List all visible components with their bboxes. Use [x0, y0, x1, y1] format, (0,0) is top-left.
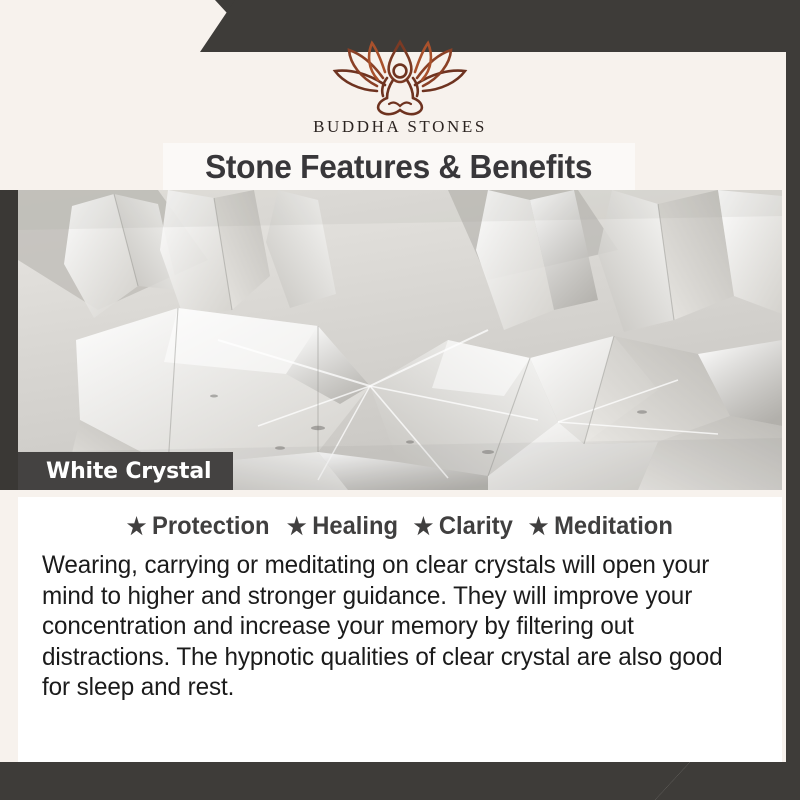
star-icon: ★ [529, 515, 549, 538]
benefit-item: ★ Meditation [529, 512, 673, 541]
brand-header: BUDDHA STONES [0, 38, 800, 138]
benefits-row: ★ Protection ★ Healing ★ Clarity ★ Medit… [18, 512, 782, 541]
lotus-meditation-icon [325, 38, 475, 116]
stone-name-ribbon: White Crystal [18, 452, 233, 490]
benefit-label: Meditation [554, 512, 673, 541]
benefit-item: ★ Healing [287, 512, 398, 541]
frame-rail-left [0, 190, 18, 490]
benefit-label: Healing [312, 512, 398, 541]
poster-root: BUDDHA STONES Stone Features & Benefits [0, 0, 800, 800]
page-title: Stone Features & Benefits [205, 148, 592, 186]
benefit-label: Protection [152, 512, 269, 541]
benefit-label: Clarity [438, 512, 512, 541]
star-icon: ★ [127, 515, 147, 538]
stone-name-label: White Crystal [46, 459, 211, 484]
benefit-item: ★ Clarity [413, 512, 512, 541]
title-banner: Stone Features & Benefits [163, 143, 635, 190]
brand-wordmark: BUDDHA STONES [0, 117, 800, 137]
frame-bar-bottom [0, 762, 800, 800]
stone-description: Wearing, carrying or meditating on clear… [42, 550, 737, 703]
content-panel: ★ Protection ★ Healing ★ Clarity ★ Medit… [18, 497, 782, 762]
benefit-item: ★ Protection [127, 512, 270, 541]
brand-logo: BUDDHA STONES [0, 38, 800, 137]
star-icon: ★ [413, 515, 433, 538]
frame-rail-right [786, 38, 800, 762]
white-crystal-cluster-photo [18, 190, 782, 490]
star-icon: ★ [287, 515, 307, 538]
